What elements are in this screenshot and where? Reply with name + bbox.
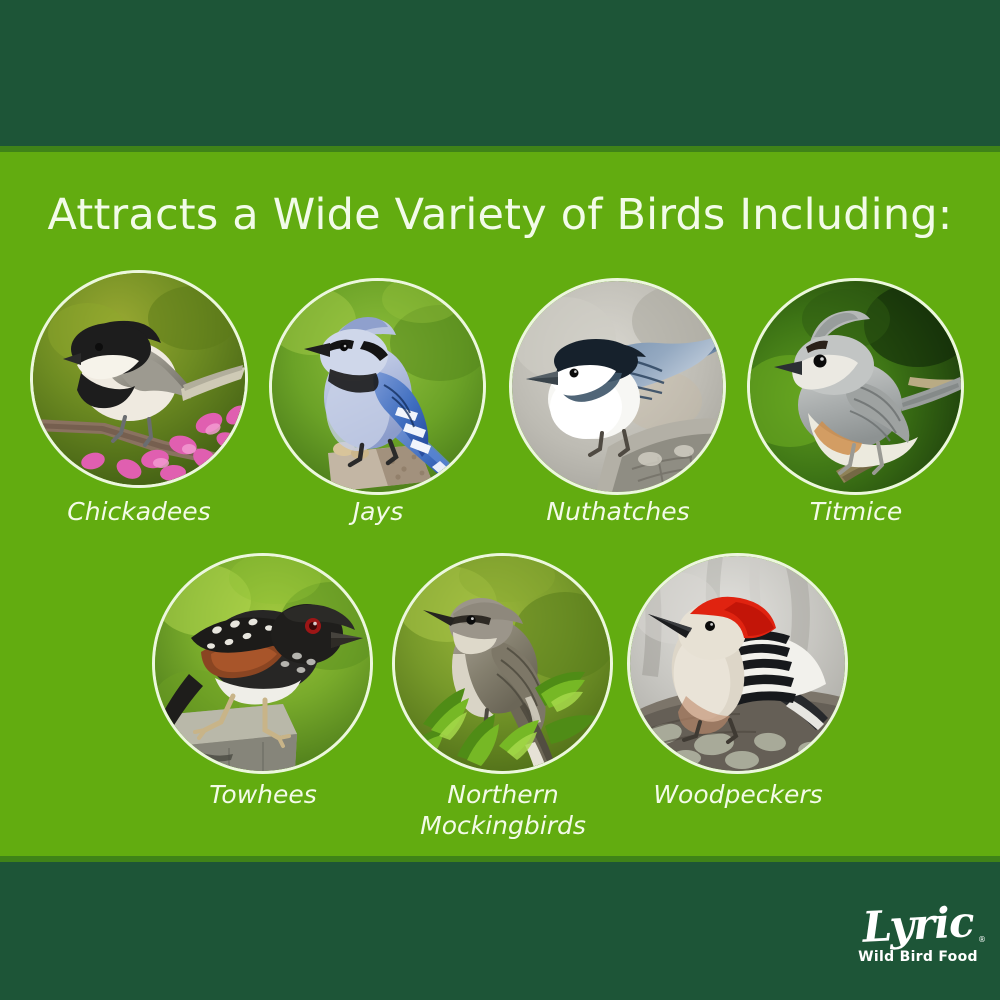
towhee-image	[155, 556, 370, 771]
bird-photo-nuthatches	[512, 281, 723, 492]
nuthatch-illustration	[512, 281, 723, 492]
caption-text-line1: Northern	[403, 779, 603, 810]
page-title: Attracts a Wide Variety of Birds Includi…	[0, 192, 1000, 239]
lyric-logo: Lyric ® Wild Bird Food	[848, 903, 988, 971]
mockingbird-image	[395, 556, 610, 771]
bird-photo-chickadees	[33, 273, 245, 485]
titmouse-image	[750, 281, 961, 492]
towhee-illustration	[155, 556, 370, 771]
caption-woodpeckers: Woodpeckers	[638, 779, 838, 810]
caption-nuthatches: Nuthatches	[518, 496, 718, 527]
blue-jay-illustration	[272, 281, 483, 492]
chickadee-image	[33, 273, 245, 485]
bird-photo-titmice	[750, 281, 961, 492]
caption-titmice: Titmice	[756, 496, 956, 527]
caption-northern-mockingbirds: Northern Mockingbirds	[403, 779, 603, 841]
blue-jay-image	[272, 281, 483, 492]
woodpecker-illustration	[630, 556, 845, 771]
logo-tagline: Wild Bird Food	[848, 949, 988, 965]
caption-text-line2: Mockingbirds	[403, 810, 603, 841]
caption-text: Titmice	[810, 497, 902, 526]
logo-brand-text: Lyric	[847, 899, 989, 950]
top-dark-green-band	[0, 0, 1000, 146]
nuthatch-image	[512, 281, 723, 492]
caption-chickadees: Chickadees	[39, 496, 239, 527]
caption-towhees: Towhees	[163, 779, 363, 810]
woodpecker-image	[630, 556, 845, 771]
titmouse-illustration	[750, 281, 961, 492]
caption-text: Nuthatches	[546, 497, 689, 526]
caption-text: Towhees	[209, 780, 317, 809]
caption-jays: Jays	[278, 496, 478, 527]
bird-photo-towhees	[155, 556, 370, 771]
registered-trademark-symbol: ®	[978, 935, 986, 944]
bird-photo-jays	[272, 281, 483, 492]
mockingbird-illustration	[395, 556, 610, 771]
chickadee-illustration	[33, 273, 245, 485]
bird-photo-northern-mockingbirds	[395, 556, 610, 771]
bird-photo-woodpeckers	[630, 556, 845, 771]
poster: Attracts a Wide Variety of Birds Includi…	[0, 0, 1000, 1000]
caption-text: Woodpeckers	[653, 780, 822, 809]
caption-text: Jays	[353, 497, 404, 526]
caption-text: Chickadees	[67, 497, 210, 526]
